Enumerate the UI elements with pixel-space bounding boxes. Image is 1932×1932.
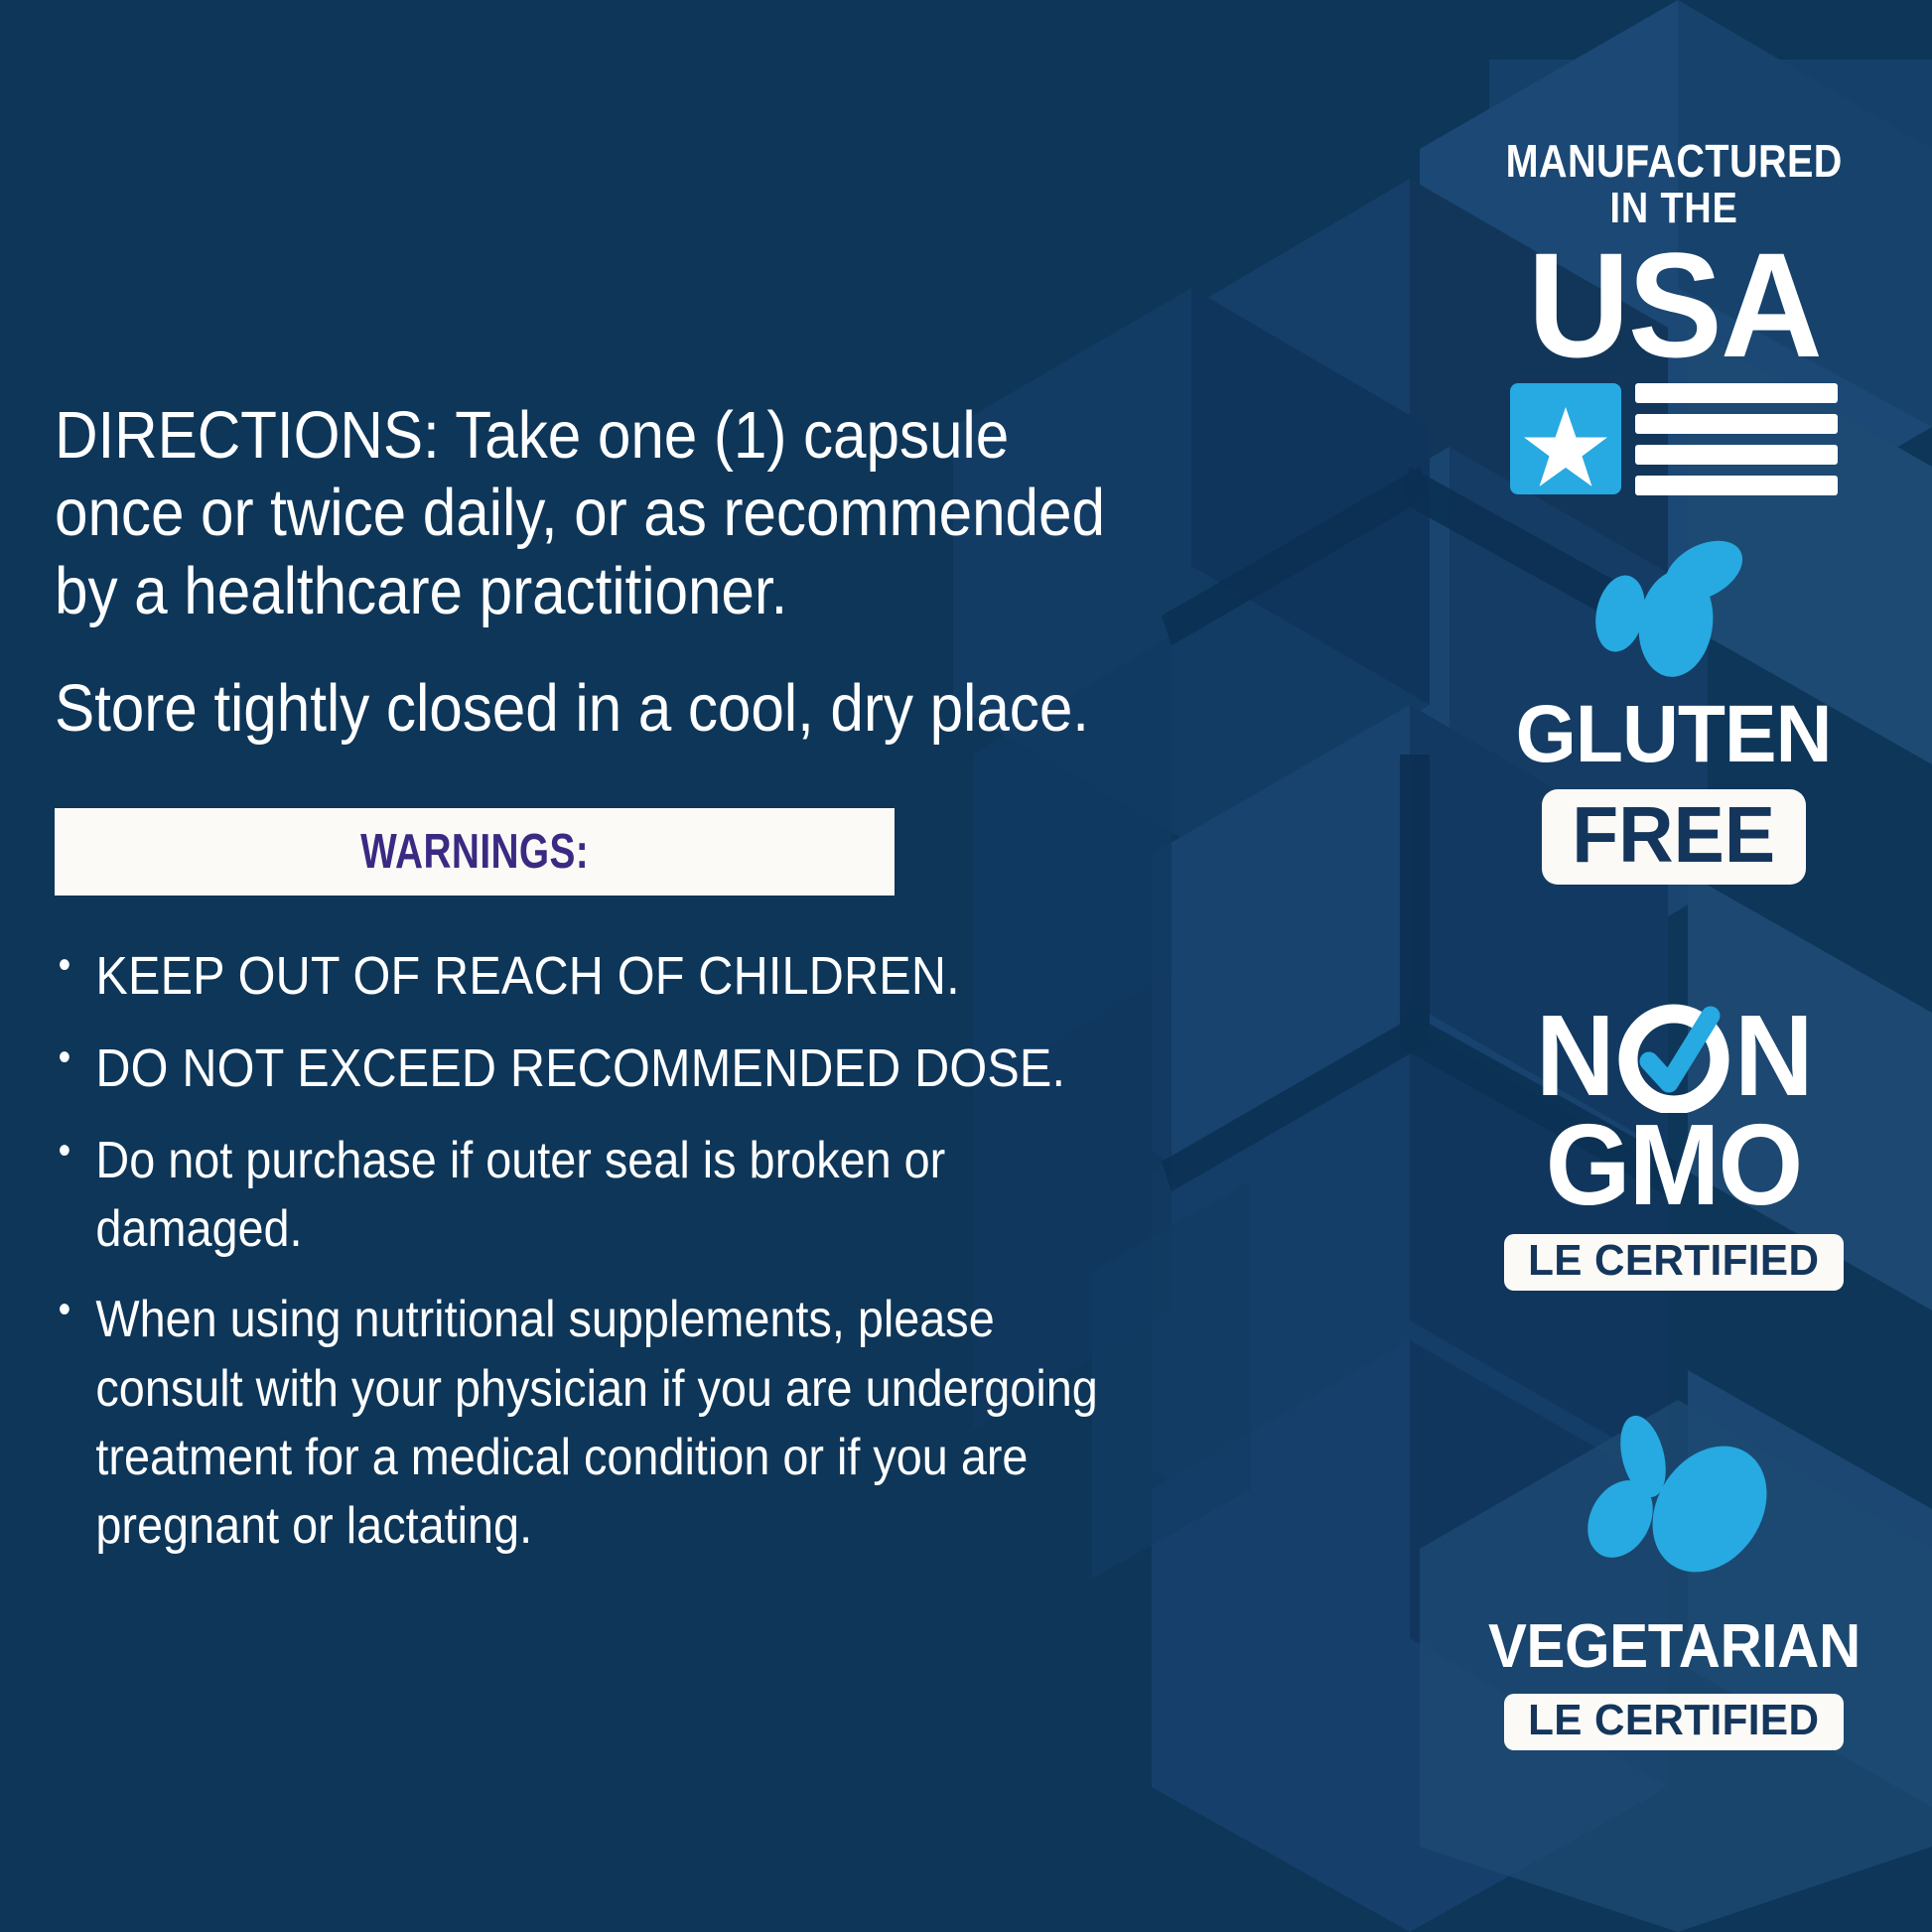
gluten-free-pill: FREE bbox=[1542, 789, 1805, 885]
gluten-free-pill-label: FREE bbox=[1573, 795, 1776, 875]
warning-item: DO NOT EXCEED RECOMMENDED DOSE. bbox=[55, 1034, 1126, 1105]
supplement-label-panel: DIRECTIONS: Take one (1) capsule once or… bbox=[0, 0, 1932, 1932]
warning-item: KEEP OUT OF REACH OF CHILDREN. bbox=[55, 941, 1126, 1013]
vegetarian-certified-pill: LE CERTIFIED bbox=[1504, 1694, 1843, 1750]
directions-text: DIRECTIONS: Take one (1) capsule once or… bbox=[55, 397, 1126, 630]
warnings-list: KEEP OUT OF REACH OF CHILDREN. DO NOT EX… bbox=[55, 941, 1126, 1562]
wheat-leaf-icon bbox=[1565, 536, 1783, 680]
leaf-sprout-icon bbox=[1545, 1415, 1803, 1603]
badge-manufactured-in-usa: MANUFACTURED IN THE USA bbox=[1416, 139, 1932, 498]
certification-badge-column: MANUFACTURED IN THE USA GLUTEN FREE bbox=[1416, 0, 1932, 1932]
vegetarian-word: VEGETARIAN bbox=[1488, 1611, 1861, 1682]
badge-non-gmo: N N GMO LE CERTIFIED bbox=[1416, 998, 1932, 1291]
non-row: N N bbox=[1534, 998, 1814, 1113]
vegetarian-certified-label: LE CERTIFIED bbox=[1528, 1699, 1819, 1742]
badge-vegetarian: VEGETARIAN LE CERTIFIED bbox=[1416, 1415, 1932, 1750]
non-gmo-certified-label: LE CERTIFIED bbox=[1528, 1239, 1819, 1283]
gluten-word: GLUTEN bbox=[1516, 688, 1832, 781]
warnings-heading: WARNINGS: bbox=[360, 824, 589, 880]
usa-line1: MANUFACTURED bbox=[1505, 139, 1842, 183]
badge-gluten-free: GLUTEN FREE bbox=[1416, 536, 1932, 885]
label-text-column: DIRECTIONS: Take one (1) capsule once or… bbox=[55, 397, 1127, 1583]
warning-item: When using nutritional supplements, plea… bbox=[55, 1286, 1126, 1561]
non-left-letter: N bbox=[1536, 998, 1613, 1113]
usa-word: USA bbox=[1527, 236, 1820, 373]
non-right-letter: N bbox=[1734, 998, 1812, 1113]
warning-item: Do not purchase if outer seal is broken … bbox=[55, 1127, 1126, 1264]
non-gmo-certified-pill: LE CERTIFIED bbox=[1504, 1234, 1843, 1291]
warnings-banner: WARNINGS: bbox=[55, 808, 895, 896]
usa-flag-icon bbox=[1510, 381, 1838, 498]
gmo-word: GMO bbox=[1546, 1107, 1802, 1222]
storage-text: Store tightly closed in a cool, dry plac… bbox=[55, 670, 1126, 748]
directions-block: DIRECTIONS: Take one (1) capsule once or… bbox=[55, 397, 1126, 749]
check-circle-icon bbox=[1615, 998, 1732, 1113]
